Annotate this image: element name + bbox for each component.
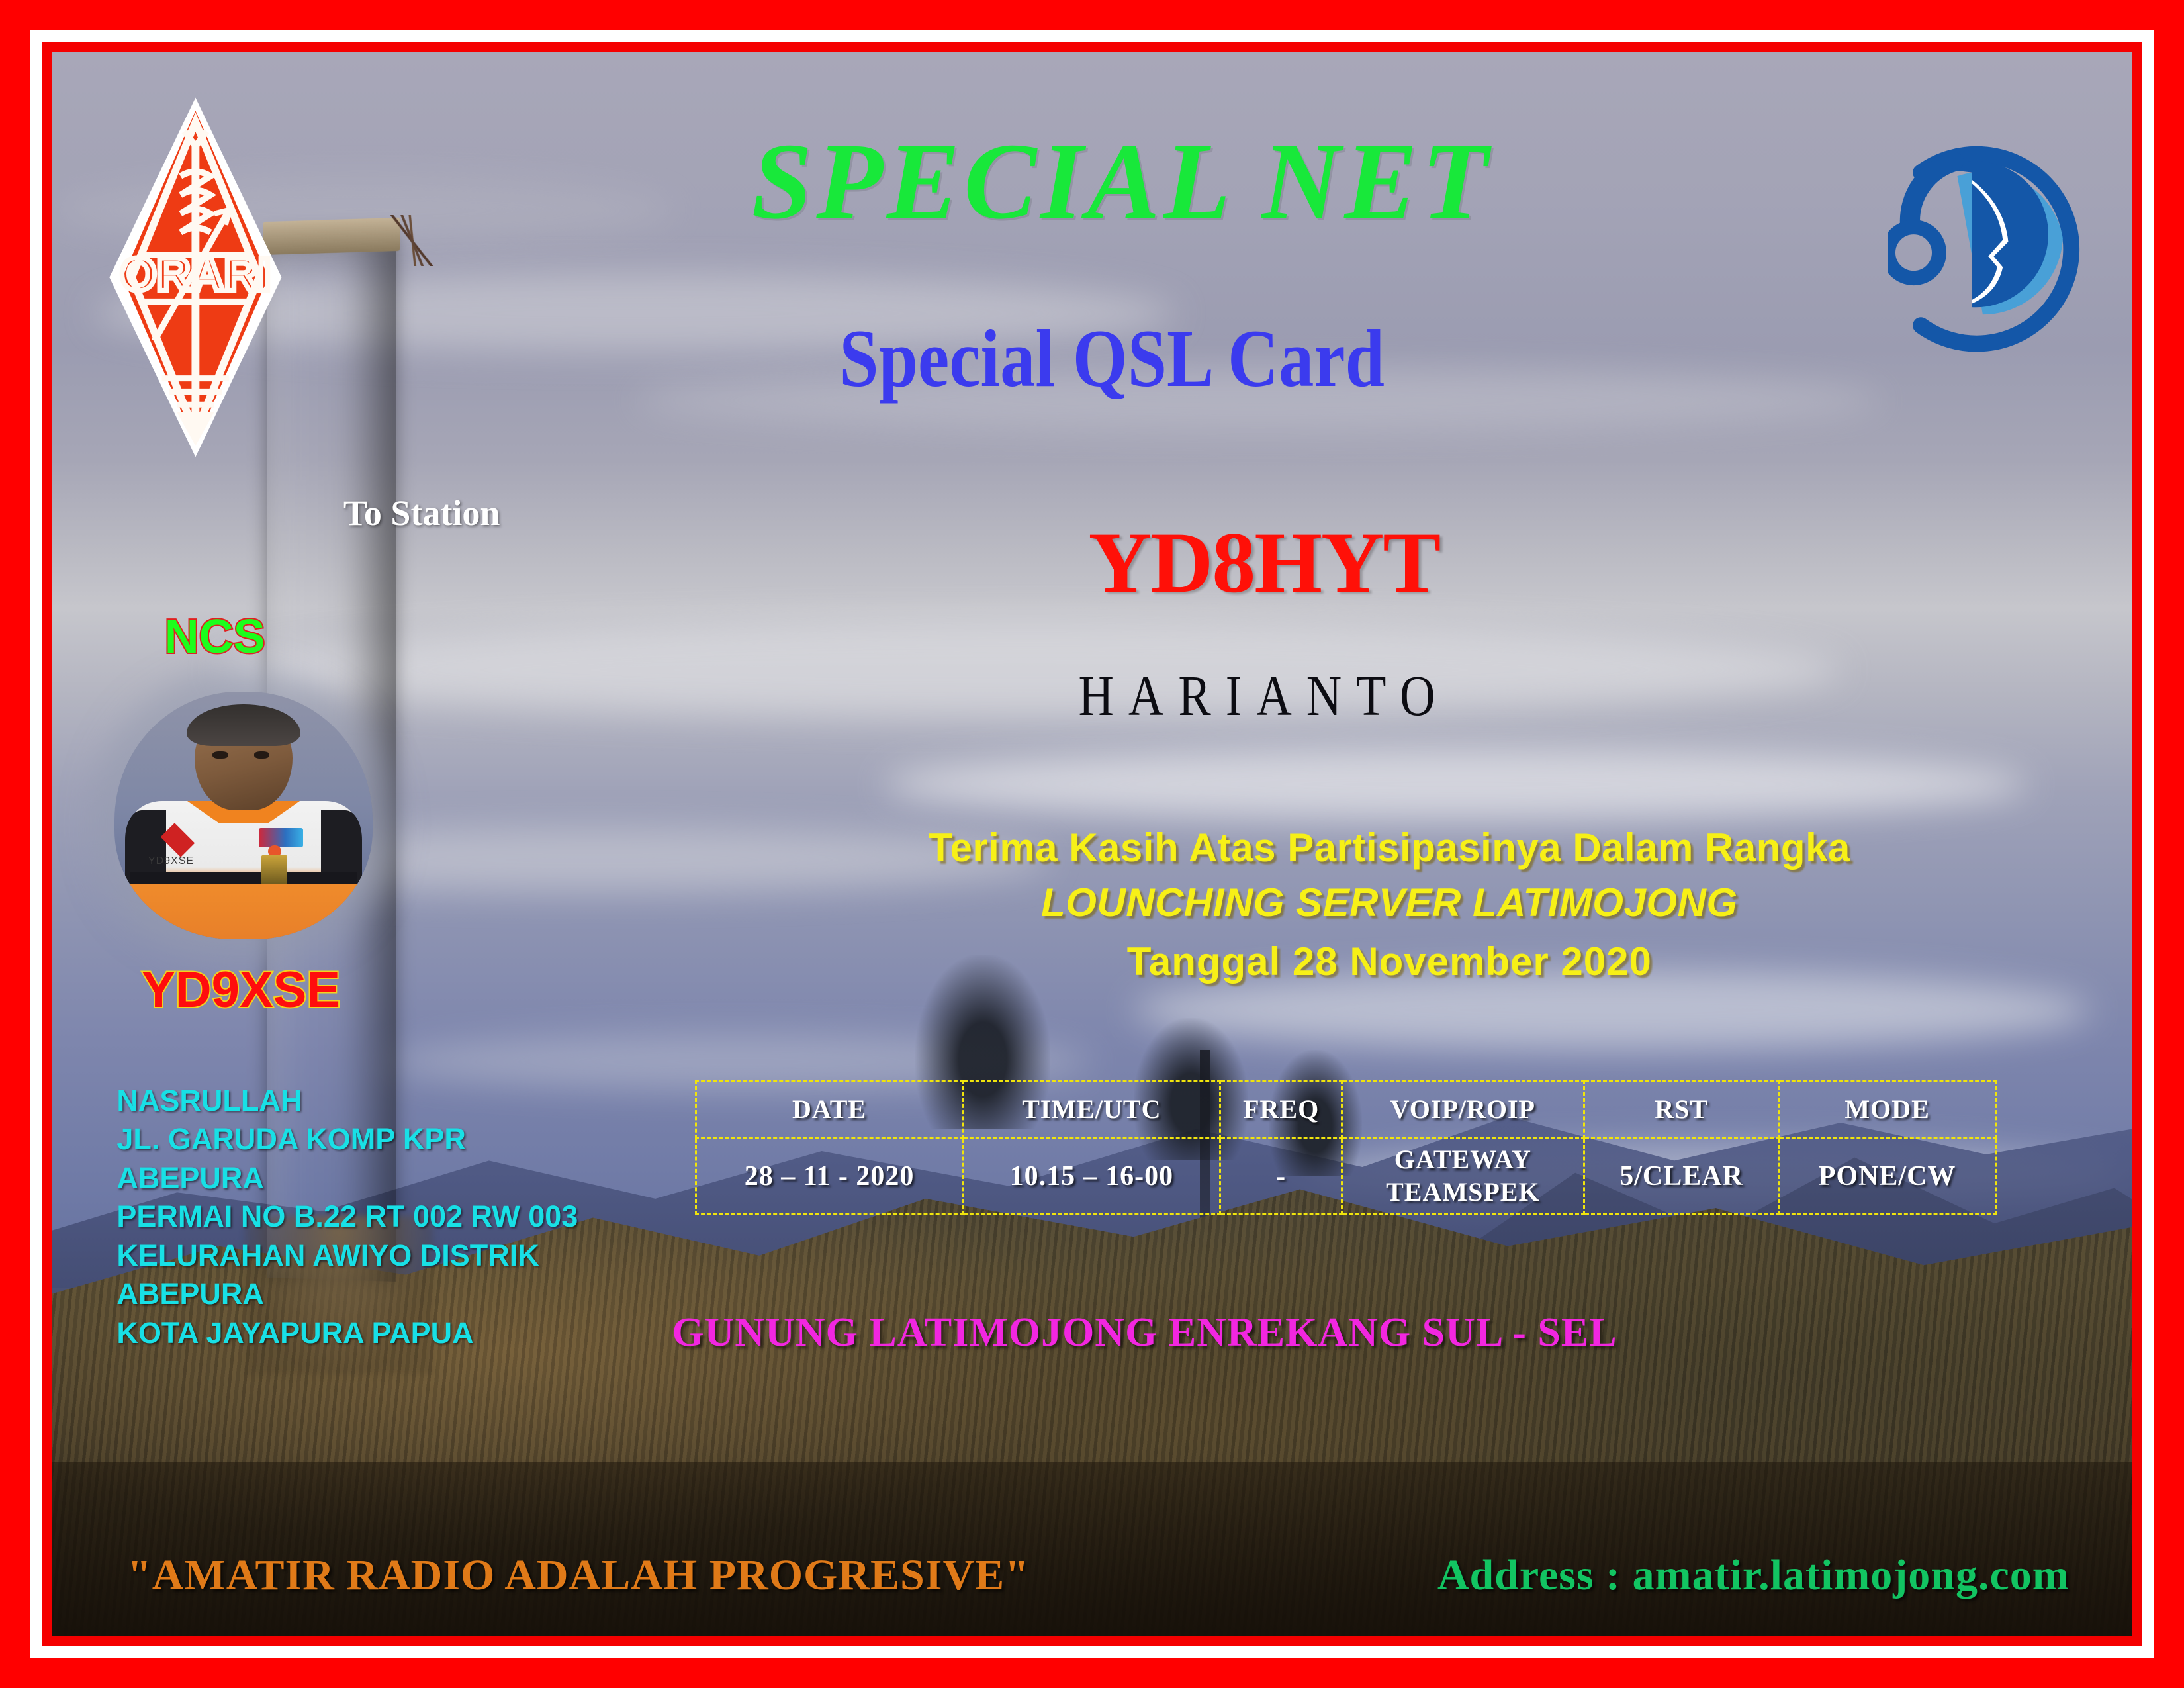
thanks-line-2-event: LOUNCHING SERVER LATIMOJONG [797,880,1982,925]
cloud-band [884,749,2028,820]
address-line: KELURAHAN AWIYO DISTRIK [116,1237,578,1276]
cell-voip-roip: GATEWAY TEAMSPEK [1342,1138,1584,1215]
address-line: JL. GARUDA KOMP KPR [116,1120,578,1159]
address-line: KOTA JAYAPURA PAPUA [116,1314,578,1353]
qsl-card-outer-border: ORARI SPECIAL NET Special QSL Card To St… [0,0,2184,1688]
photo-id-card [261,855,287,885]
recipient-callsign: YD8HYT [52,512,2132,613]
column-header-voip-roip: VOIP/ROIP [1342,1081,1584,1138]
photo-eye-left [212,751,228,759]
footer-web-address: Address : amatir.latimojong.com [1437,1550,2070,1601]
qsl-card-white-gap: ORARI SPECIAL NET Special QSL Card To St… [30,30,2154,1658]
thanks-message-block: Terima Kasih Atas Partisipasinya Dalam R… [797,825,1982,984]
table-header-row: DATE TIME/UTC FREQ VOIP/ROIP RST MODE [696,1081,1995,1138]
location-label: GUNUNG LATIMOJONG ENREKANG SUL - SEL [672,1309,1617,1356]
address-line: NASRULLAH [116,1082,578,1121]
foreground-dark-band [52,1462,2132,1636]
column-header-rst: RST [1584,1081,1779,1138]
cell-rst: 5/CLEAR [1584,1138,1779,1215]
cell-freq: - [1220,1138,1342,1215]
thanks-line-1: Terima Kasih Atas Partisipasinya Dalam R… [797,825,1982,870]
ncs-callsign: YD9XSE [142,961,340,1019]
cell-voip-roip-line-1: GATEWAY [1343,1144,1583,1176]
recipient-operator-name: HARIANTO [52,663,2132,729]
cell-voip-roip-line-2: TEAMSPEK [1343,1176,1583,1209]
address-line: PERMAI NO B.22 RT 002 RW 003 [116,1197,578,1237]
cell-mode: PONE/CW [1779,1138,1995,1215]
column-header-date: DATE [696,1081,962,1138]
column-header-time-utc: TIME/UTC [963,1081,1220,1138]
qsl-card-inner-border: ORARI SPECIAL NET Special QSL Card To St… [42,42,2142,1646]
cell-date: 28 – 11 - 2020 [696,1138,962,1215]
qso-details-table: DATE TIME/UTC FREQ VOIP/ROIP RST MODE 28… [695,1080,1997,1215]
column-header-freq: FREQ [1220,1081,1342,1138]
photo-uniform-stripe [130,872,357,885]
cell-time-utc: 10.15 – 16-00 [963,1138,1220,1215]
footer-tagline: "AMATIR RADIO ADALAH PROGRESIVE" [127,1550,1030,1601]
address-line: ABEPURA [116,1275,578,1314]
thanks-line-3-date: Tanggal 28 November 2020 [797,939,1982,984]
photo-chest-logo [259,828,302,848]
page-subtitle-special-qsl-card: Special QSL Card [198,312,1986,406]
ncs-operator-photo: YD9XSE [114,692,373,939]
qsl-card-background-photo: ORARI SPECIAL NET Special QSL Card To St… [52,52,2132,1636]
page-title-special-net: SPECIAL NET [52,118,2132,244]
photo-eye-right [254,751,269,759]
column-header-mode: MODE [1779,1081,1995,1138]
table-row: 28 – 11 - 2020 10.15 – 16-00 - GATEWAY T… [696,1138,1995,1215]
ncs-label: NCS [165,610,265,664]
photo-hair [187,704,300,746]
orari-logo-text: ORARI [120,248,271,300]
photo-uniform-callsign: YD9XSE [148,855,194,867]
address-line: ABEPURA [116,1159,578,1198]
sender-address-block: NASRULLAH JL. GARUDA KOMP KPR ABEPURA PE… [116,1082,578,1353]
